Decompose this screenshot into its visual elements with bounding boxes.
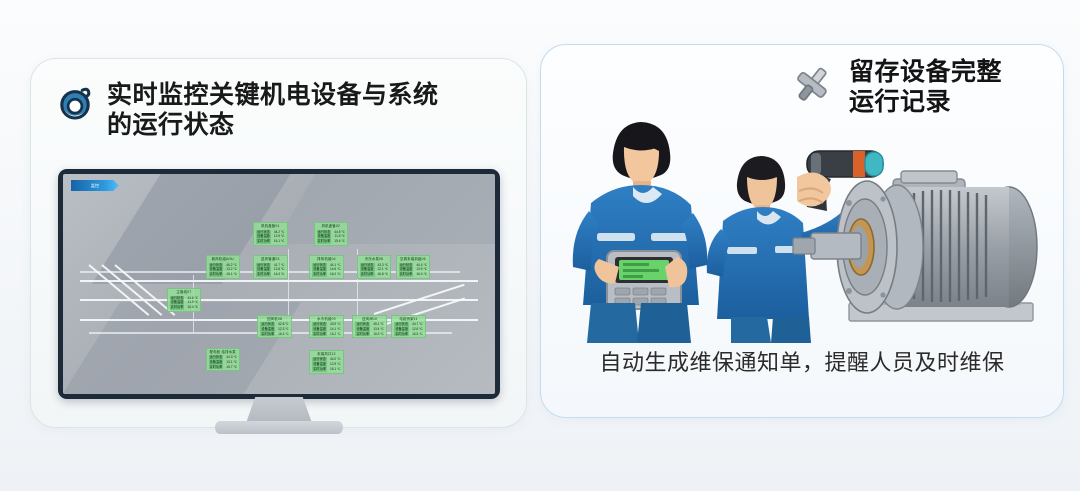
data-box-row: 实时功率16.6 ℃	[260, 332, 288, 337]
monitor-data-box[interactable]: 水冷机组09运行状态43.9 ℃设备温度14.1 ℃实时功率16.2 ℃	[309, 315, 343, 339]
page-background: 实时监控关键机电设备与系统 的运行状态	[0, 0, 1080, 491]
data-box-value: 16.5 ℃	[412, 332, 423, 337]
data-box-value: 16.0 ℃	[416, 272, 427, 277]
data-box-value: 16.2 ℃	[330, 332, 341, 337]
data-box-key: 实时功率	[256, 272, 271, 277]
data-box-key: 实时功率	[355, 332, 370, 337]
data-box-row: 实时功率16.1 ℃	[312, 367, 340, 372]
brand-circle-icon	[55, 83, 95, 123]
data-box-row: 实时功率16.1 ℃	[256, 239, 284, 244]
data-box-key: 实时功率	[209, 365, 224, 370]
monitor-data-box[interactable]: 主管线07运行状态44.6 ℃设备温度11.9 ℃实时功率16.4 ℃	[167, 288, 201, 312]
workers-and-motor-illustration	[561, 91, 1061, 343]
handheld-device	[594, 251, 687, 309]
screen-shade	[274, 174, 495, 244]
data-box-value: 15.9 ℃	[373, 332, 384, 337]
left-feature-card: 实时监控关键机电设备与系统 的运行状态	[30, 58, 527, 428]
right-feature-card: 留存设备完整 运行记录	[540, 44, 1064, 418]
data-box-key: 实时功率	[260, 332, 275, 337]
data-box-key: 实时功率	[209, 272, 224, 277]
data-box-value: 16.7 ℃	[226, 365, 237, 370]
monitor-data-box[interactable]: 电缆桥架11运行状态44.7 ℃设备温度12.6 ℃实时功率16.5 ℃	[391, 315, 425, 339]
data-box-key: 实时功率	[312, 272, 327, 277]
data-box-row: 实时功率16.0 ℃	[399, 272, 427, 277]
data-box-row: 实时功率16.3 ℃	[256, 272, 284, 277]
monitor-stand-neck	[246, 397, 312, 423]
data-box-value: 16.3 ℃	[274, 272, 285, 277]
data-box-row: 实时功率16.7 ℃	[209, 365, 237, 370]
data-box-value: 16.1 ℃	[274, 239, 285, 244]
data-box-key: 实时功率	[360, 272, 375, 277]
data-box-value: 15.4 ℃	[334, 239, 345, 244]
data-box-row: 实时功率16.2 ℃	[312, 332, 340, 337]
data-box-row: 实时功率16.4 ℃	[170, 305, 198, 310]
screen-tab[interactable]: 监控	[71, 180, 119, 191]
monitor-data-box[interactable]: 风机盘管02运行状态44.5 ℃设备温度11.5 ℃实时功率15.4 ℃	[314, 222, 348, 246]
data-box-key: 实时功率	[317, 239, 332, 244]
monitor-data-box[interactable]: 送风阀10运行状态45.1 ℃设备温度13.4 ℃实时功率15.9 ℃	[352, 315, 386, 339]
data-box-value: 15.1 ℃	[226, 272, 237, 277]
monitor-bezel: 监控 风机盘管01运行状态44.2 ℃设备温度12.5 ℃实时功率16.1 ℃风…	[58, 169, 500, 399]
data-box-value: 16.6 ℃	[278, 332, 289, 337]
data-box-key: 实时功率	[312, 332, 327, 337]
data-box-key: 实时功率	[399, 272, 414, 277]
monitor-data-box[interactable]: 风机盘管01运行状态44.2 ℃设备温度12.5 ℃实时功率16.1 ℃	[253, 222, 287, 246]
monitor-illustration: 监控 风机盘管01运行状态44.2 ℃设备温度12.5 ℃实时功率16.1 ℃风…	[58, 169, 500, 399]
monitor-data-box[interactable]: 回风机08运行状态42.8 ℃设备温度12.3 ℃实时功率16.6 ℃	[257, 315, 291, 339]
data-box-row: 实时功率16.2 ℃	[312, 272, 340, 277]
monitor-data-box[interactable]: 空调末端机组06运行状态44.4 ℃设备温度13.9 ℃实时功率16.0 ℃	[396, 255, 430, 279]
data-box-row: 实时功率15.1 ℃	[209, 272, 237, 277]
data-box-key: 实时功率	[256, 239, 271, 244]
right-card-caption: 自动生成维保通知单，提醒人员及时维保	[541, 345, 1063, 377]
monitor-data-box[interactable]: 送风管道03运行状态41.7 ℃设备温度12.8 ℃实时功率16.3 ℃	[253, 255, 287, 279]
data-box-key: 实时功率	[394, 332, 409, 337]
monitor-data-box[interactable]: 新风机组AHU运行状态46.2 ℃设备温度13.2 ℃实时功率15.1 ℃	[206, 255, 240, 279]
monitor-data-box[interactable]: 排风机组04运行状态44.1 ℃设备温度14.6 ℃实时功率16.2 ℃	[309, 255, 343, 279]
left-card-title: 实时监控关键机电设备与系统 的运行状态	[107, 81, 439, 140]
monitor-data-box[interactable]: 冷冻水泵05运行状态43.3 ℃设备温度12.1 ℃实时功率16.8 ℃	[357, 255, 391, 279]
data-box-row: 实时功率15.4 ℃	[317, 239, 345, 244]
monitor-data-box[interactable]: 末端风口12运行状态44.0 ℃设备温度12.9 ℃实时功率16.1 ℃	[309, 350, 343, 374]
data-box-key: 实时功率	[170, 305, 185, 310]
data-box-row: 实时功率16.8 ℃	[360, 272, 388, 277]
data-box-row: 实时功率15.9 ℃	[355, 332, 383, 337]
screen-tab-label: 监控	[91, 183, 100, 189]
data-box-value: 16.4 ℃	[187, 305, 198, 310]
data-box-row: 实时功率16.5 ℃	[394, 332, 422, 337]
worker-front	[573, 122, 707, 343]
monitor-data-box[interactable]: 配电柜 给排水泵运行状态44.3 ℃设备温度13.1 ℃实时功率16.7 ℃	[206, 348, 240, 372]
data-box-value: 16.8 ℃	[378, 272, 389, 277]
data-box-value: 16.1 ℃	[330, 367, 341, 372]
data-box-key: 实时功率	[312, 367, 327, 372]
left-card-header: 实时监控关键机电设备与系统 的运行状态	[55, 81, 505, 140]
monitor-stand-base	[215, 421, 343, 434]
data-box-value: 16.2 ℃	[330, 272, 341, 277]
monitor-screen: 监控 风机盘管01运行状态44.2 ℃设备温度12.5 ℃实时功率16.1 ℃风…	[63, 174, 495, 394]
